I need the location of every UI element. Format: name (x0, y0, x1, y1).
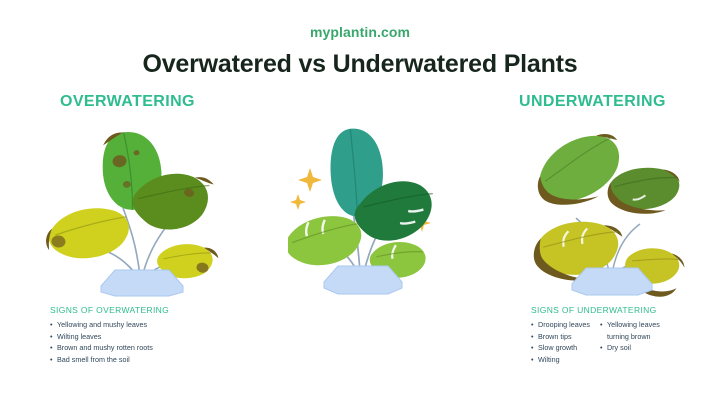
signs-underwatering-list-col1: •Drooping leaves •Brown tips •Slow growt… (531, 319, 590, 366)
bullet-icon: • (531, 342, 534, 354)
bullet-icon: • (531, 319, 534, 331)
list-item-label: Yellowing leaves (607, 320, 660, 329)
signs-underwatering-block: SIGNS OF UNDERWATERING •Drooping leaves … (531, 305, 716, 366)
bullet-icon: • (50, 319, 53, 331)
bullet-icon: • (600, 319, 603, 331)
signs-underwatering-list-col2: •Yellowing leaves turning brown •Dry soi… (600, 319, 660, 366)
healthy-plant-illustration (288, 122, 438, 297)
sparkle-icon (298, 168, 322, 192)
list-item: •Brown tips (531, 331, 590, 343)
plant-pot (572, 268, 652, 295)
list-item-continuation: turning brown (600, 331, 660, 343)
list-item-label: Wilting leaves (57, 332, 101, 341)
leaf-left-light (288, 211, 363, 269)
brand-label: myplantin.com (0, 24, 720, 40)
list-item: •Drooping leaves (531, 319, 590, 331)
underwatered-plant-illustration (512, 122, 702, 297)
signs-overwatering-list: •Yellowing and mushy leaves •Wilting lea… (50, 319, 270, 366)
signs-underwatering-title: SIGNS OF UNDERWATERING (531, 305, 716, 315)
list-item-label: Wilting (538, 355, 560, 364)
list-item-label: Bad smell from the soil (57, 355, 130, 364)
list-item: •Yellowing leaves (600, 319, 660, 331)
heading-overwatering: OVERWATERING (60, 93, 195, 111)
plant-pot (324, 266, 402, 294)
sparkle-icon (290, 194, 306, 210)
leaf-top-right-droop (605, 162, 681, 219)
list-item: •Bad smell from the soil (50, 354, 270, 366)
overwatered-plant-illustration (45, 122, 235, 297)
bullet-icon: • (531, 354, 534, 366)
list-item-label: Brown and mushy rotten roots (57, 343, 153, 352)
bullet-icon: • (50, 354, 53, 366)
signs-overwatering-block: SIGNS OF OVERWATERING •Yellowing and mus… (50, 305, 270, 366)
bullet-icon: • (50, 331, 53, 343)
list-item-label: Dry soil (607, 343, 631, 352)
signs-overwatering-title: SIGNS OF OVERWATERING (50, 305, 270, 315)
leaf-left-drooping (45, 201, 131, 264)
list-item-label: Drooping leaves (538, 320, 590, 329)
list-item: •Wilting (531, 354, 590, 366)
list-item-label: turning brown (607, 332, 651, 341)
plant-pot (101, 270, 183, 296)
list-item: •Brown and mushy rotten roots (50, 342, 270, 354)
list-item: •Yellowing and mushy leaves (50, 319, 270, 331)
list-item: •Slow growth (531, 342, 590, 354)
heading-underwatering: UNDERWATERING (519, 93, 666, 111)
bullet-icon: • (600, 342, 603, 354)
page-title: Overwatered vs Underwatered Plants (0, 50, 720, 79)
list-item-label: Yellowing and mushy leaves (57, 320, 147, 329)
list-item: •Dry soil (600, 342, 660, 354)
list-item-label: Slow growth (538, 343, 577, 352)
bullet-icon: • (531, 331, 534, 343)
infographic-canvas: myplantin.com Overwatered vs Underwatere… (0, 0, 720, 404)
list-item: •Wilting leaves (50, 331, 270, 343)
list-item-label: Brown tips (538, 332, 572, 341)
bullet-icon: • (50, 342, 53, 354)
